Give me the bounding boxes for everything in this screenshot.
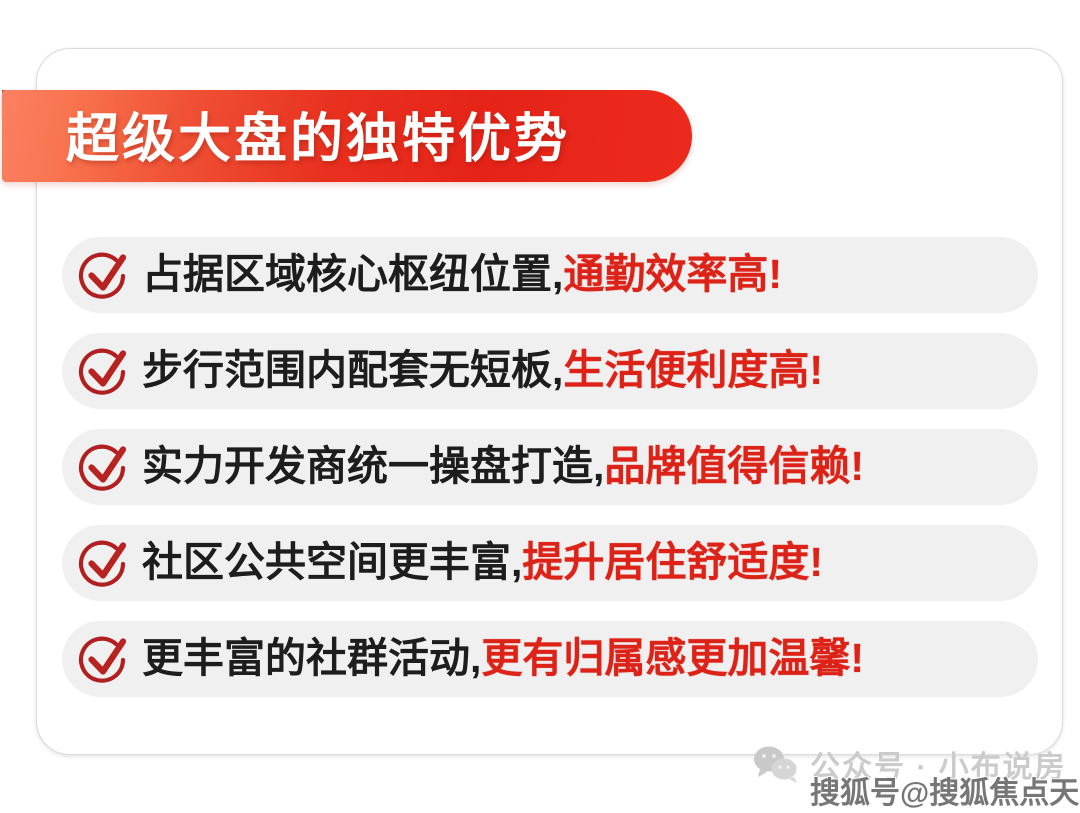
list-item-text: 步行范围内配套无短板,生活便利度高! [142,350,823,393]
list-item: 实力开发商统一操盘打造,品牌值得信赖! [62,429,1038,505]
poster-root: 超级大盘的独特优势 占据区域核心枢纽位置,通勤效率高! 步行范围内配套无短板,生… [0,0,1080,813]
check-circle-icon [78,633,130,685]
list-item-text: 占据区域核心枢纽位置,通勤效率高! [142,254,782,297]
list-item: 社区公共空间更丰富,提升居住舒适度! [62,525,1038,601]
list-item-text-plain: 占据区域核心枢纽位置, [142,251,563,297]
check-circle-icon [78,249,130,301]
sohu-watermark-text: 搜狐号@搜狐焦点天门站 [810,768,1080,812]
list-item-text-highlight: 品牌值得信赖! [604,443,864,489]
check-circle-icon [78,537,130,589]
list-item-text-highlight: 提升居住舒适度! [522,539,823,585]
list-item-text: 实力开发商统一操盘打造,品牌值得信赖! [142,446,864,489]
list-item-text-plain: 实力开发商统一操盘打造, [142,443,604,489]
list-item-text-highlight: 更有归属感更加温馨! [481,635,864,681]
list-item-text-plain: 步行范围内配套无短板, [142,347,563,393]
list-item: 占据区域核心枢纽位置,通勤效率高! [62,237,1038,313]
feature-list: 占据区域核心枢纽位置,通勤效率高! 步行范围内配套无短板,生活便利度高! 实力开… [62,237,1038,717]
check-circle-icon [78,345,130,397]
list-item-text: 社区公共空间更丰富,提升居住舒适度! [142,542,823,585]
title-ribbon: 超级大盘的独特优势 [2,90,692,182]
check-circle-icon [78,441,130,493]
list-item: 更丰富的社群活动,更有归属感更加温馨! [62,621,1038,697]
list-item-text: 更丰富的社群活动,更有归属感更加温馨! [142,638,864,681]
list-item-text-plain: 社区公共空间更丰富, [142,539,522,585]
list-item: 步行范围内配套无短板,生活便利度高! [62,333,1038,409]
list-item-text-plain: 更丰富的社群活动, [142,635,481,681]
list-item-text-highlight: 生活便利度高! [563,347,823,393]
list-item-text-highlight: 通勤效率高! [563,251,782,297]
wechat-bubbles-icon [752,744,800,784]
page-title: 超级大盘的独特优势 [66,96,570,172]
